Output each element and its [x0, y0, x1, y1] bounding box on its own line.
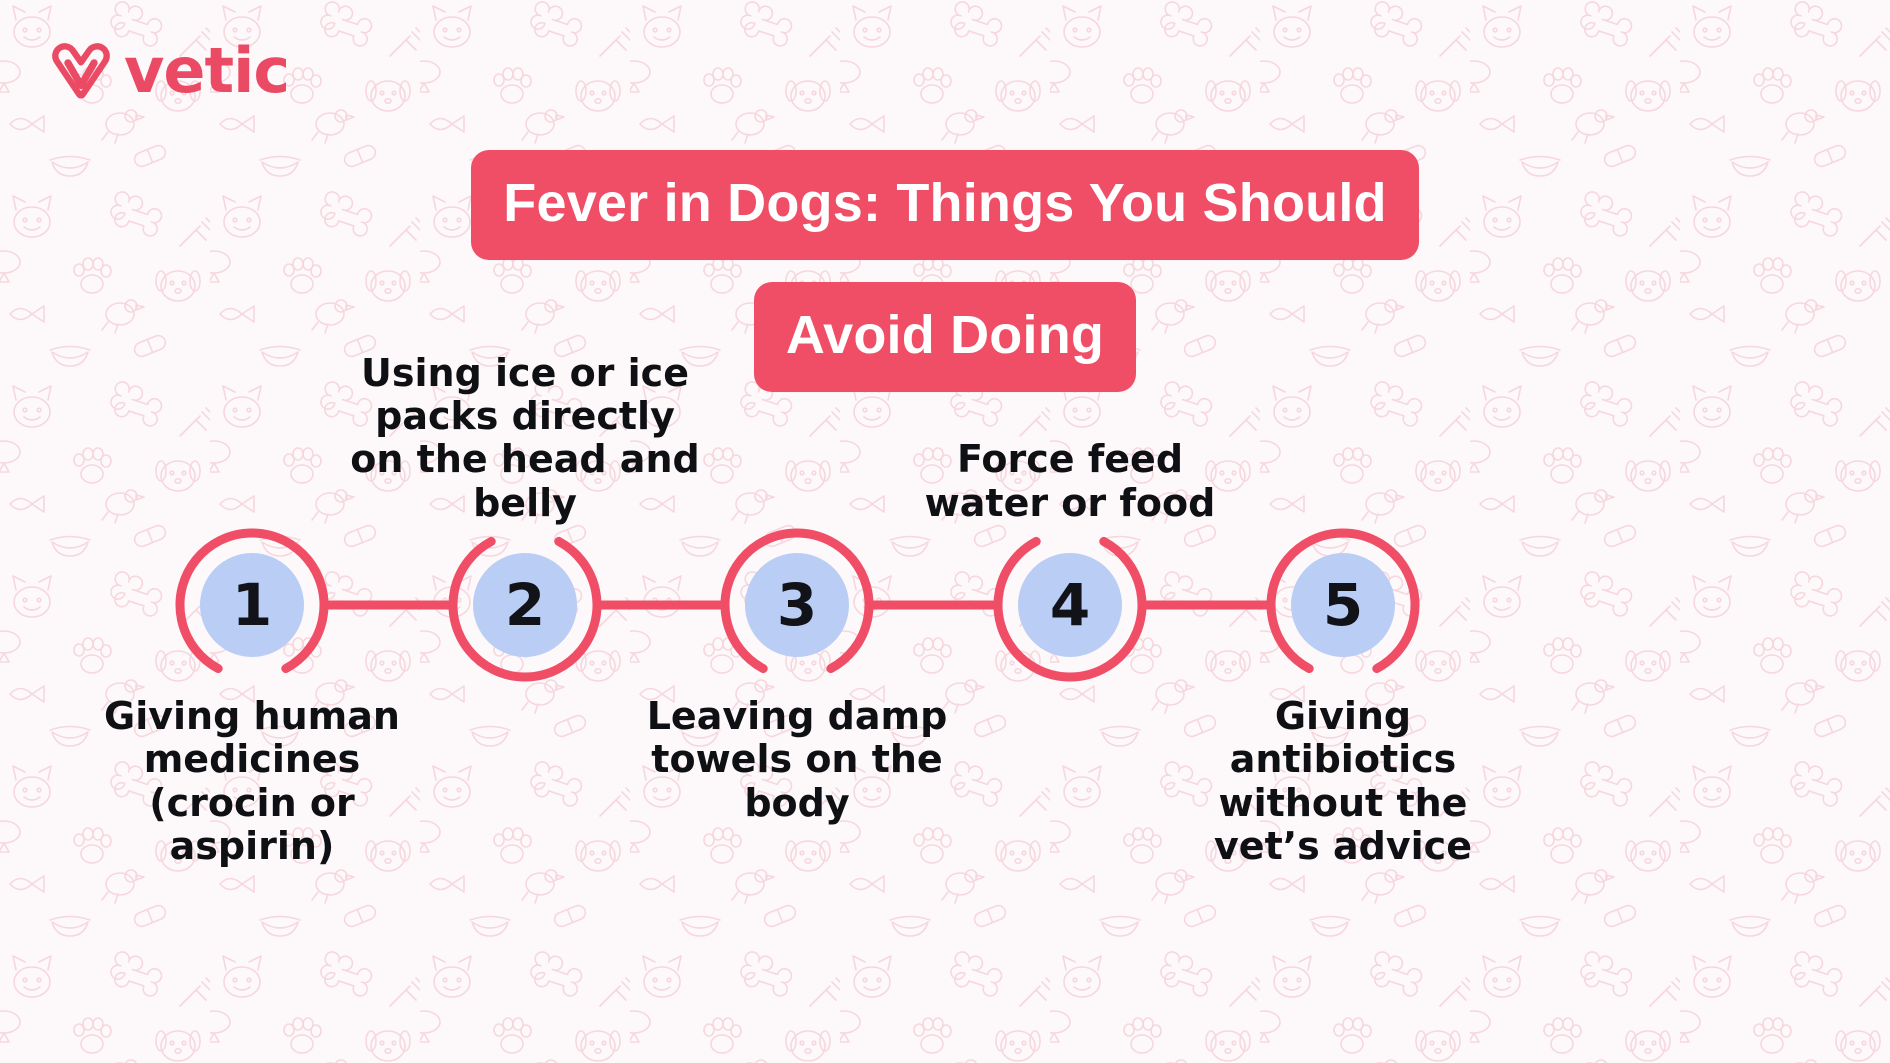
title-banner-line1: Fever in Dogs: Things You Should [471, 150, 1418, 260]
step-caption-1: Giving human medicines (crocin or aspiri… [72, 695, 432, 868]
step-number-1: 1 [192, 545, 312, 665]
step-number-2: 2 [465, 545, 585, 665]
timeline: 12345 Giving human medicines (crocin or … [0, 490, 1890, 910]
step-number-4: 4 [1010, 545, 1130, 665]
step-caption-4: Force feed water or food [890, 438, 1250, 525]
step-caption-5: Giving antibiotics without the vet’s adv… [1163, 695, 1523, 868]
step-number-5: 5 [1283, 545, 1403, 665]
title-banner-line2: Avoid Doing [754, 282, 1136, 392]
step-number-3: 3 [737, 545, 857, 665]
brand-logo[interactable]: vetic [52, 40, 289, 102]
heart-v-icon [52, 43, 110, 99]
page-title: Fever in Dogs: Things You Should Avoid D… [0, 150, 1890, 392]
step-caption-3: Leaving damp towels on the body [617, 695, 977, 825]
brand-name: vetic [124, 40, 289, 102]
